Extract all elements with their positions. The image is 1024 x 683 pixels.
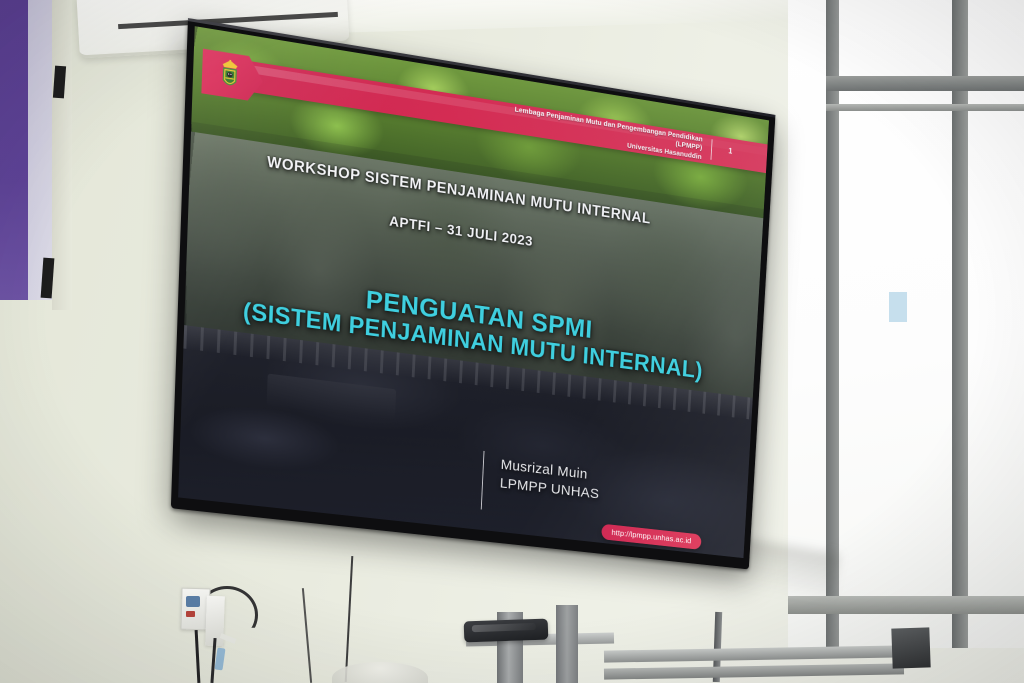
tv-bezel: Lembaga Penjaminan Mutu dan Pengembangan… xyxy=(171,18,776,569)
power-indicator-icon xyxy=(186,611,195,617)
tv-stand-column xyxy=(556,605,578,683)
tv-screen[interactable]: Lembaga Penjaminan Mutu dan Pengembangan… xyxy=(178,26,769,558)
tv-stand-block xyxy=(891,627,930,668)
room-scene: Lembaga Penjaminan Mutu dan Pengembangan… xyxy=(0,0,1024,683)
power-socket-icon xyxy=(186,596,200,607)
television: Lembaga Penjaminan Mutu dan Pengembangan… xyxy=(0,0,1024,683)
universitas-hasanuddin-emblem-icon xyxy=(215,58,245,92)
tv-stand-tray xyxy=(464,619,549,643)
